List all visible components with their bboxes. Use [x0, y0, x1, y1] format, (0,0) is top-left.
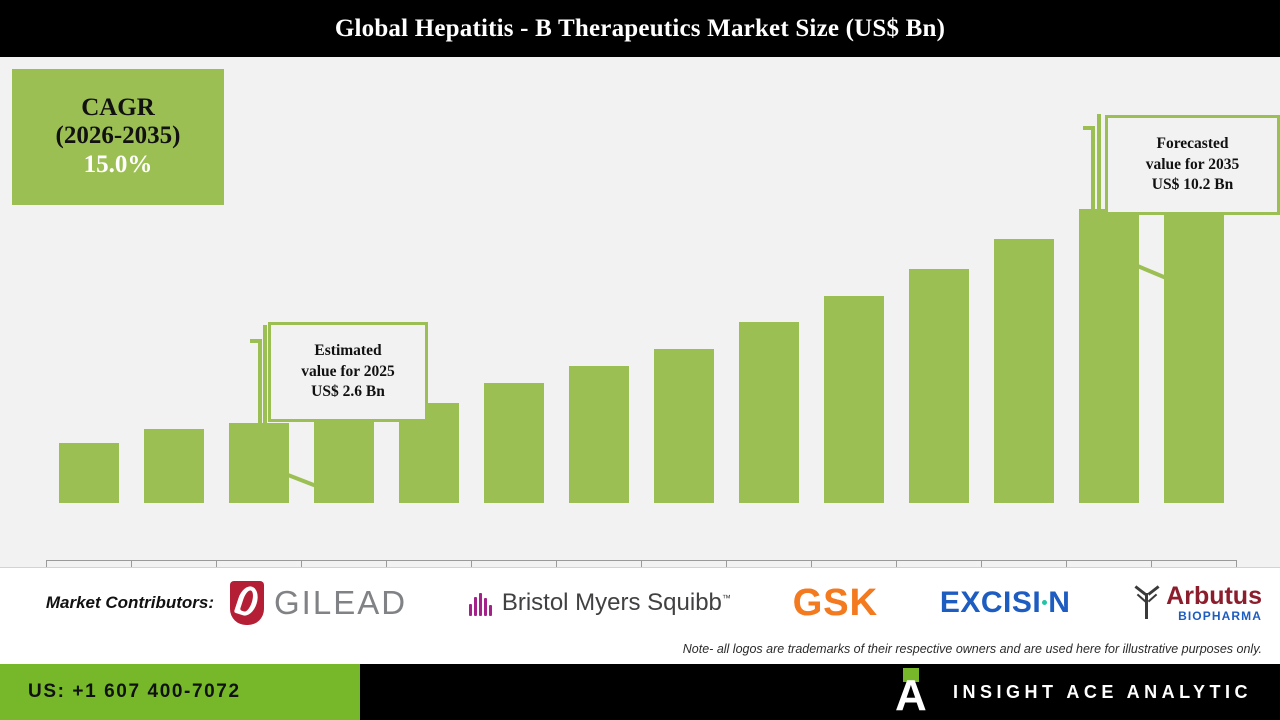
arbutus-tree-icon	[1132, 585, 1162, 621]
callout-estimated-line3: US$ 2.6 Bn	[311, 382, 385, 402]
gilead-wordmark: GILEAD	[274, 584, 407, 622]
bar-2032	[896, 57, 981, 503]
x-tick	[641, 560, 642, 567]
chart-panel: CAGR (2026-2035) 15.0% 2022 (A)2023 (A)2…	[0, 57, 1280, 567]
arbutus-name: Arbutus	[1166, 584, 1262, 609]
page-title: Global Hepatitis - B Therapeutics Market…	[335, 15, 945, 43]
callout-forecasted-line1: Forecasted	[1156, 134, 1228, 154]
bar-series	[46, 57, 1236, 503]
contributors-row: Market Contributors: GILEAD Bristol Myer…	[0, 568, 1280, 638]
arbutus-subtitle: BIOPHARMA	[1178, 609, 1262, 623]
x-tick	[471, 560, 472, 567]
footer-phone[interactable]: US: +1 607 400-7072	[0, 681, 241, 703]
brand-name: INSIGHT ACE ANALYTIC	[953, 682, 1252, 703]
x-tick	[556, 560, 557, 567]
x-tick	[726, 560, 727, 567]
trademark-note: Note- all logos are trademarks of their …	[683, 642, 1262, 656]
logo-gsk: GSK	[793, 582, 878, 625]
bar-2028	[556, 57, 641, 503]
logo-gilead: GILEAD	[230, 581, 407, 625]
bms-wordmark-text: Bristol Myers Squibb	[502, 589, 722, 616]
bar-rect	[59, 443, 119, 503]
bar-rect	[739, 322, 799, 503]
insight-ace-logo-icon: A	[895, 668, 935, 716]
callout-forecasted-box: Forecasted value for 2035 US$ 10.2 Bn	[1105, 115, 1280, 215]
x-tick	[896, 560, 897, 567]
x-tick	[46, 560, 47, 567]
callout-forecasted-line2: value for 2035	[1146, 155, 1240, 175]
bms-hand-icon	[469, 590, 494, 616]
callout-forecasted-line3: US$ 10.2 Bn	[1152, 175, 1233, 195]
contributors-logos: GILEAD Bristol Myers Squibb™ GSK EXCISIN	[230, 581, 1280, 625]
contributors-strip: Market Contributors: GILEAD Bristol Myer…	[0, 567, 1280, 664]
logo-bristol-myers-squibb: Bristol Myers Squibb™	[469, 589, 731, 617]
x-tick	[216, 560, 217, 567]
callout-forecasted-2035: Forecasted value for 2035 US$ 10.2 Bn	[1075, 112, 1280, 272]
x-tick	[1151, 560, 1152, 567]
x-tick	[811, 560, 812, 567]
footer-bar: US: +1 607 400-7072 A INSIGHT ACE ANALYT…	[0, 664, 1280, 720]
x-tick	[131, 560, 132, 567]
footer-phone-block: US: +1 607 400-7072	[0, 664, 360, 720]
excision-dot-icon	[1042, 600, 1047, 605]
x-tick	[981, 560, 982, 567]
excision-wordmark: EXCISIN	[940, 586, 1071, 620]
bar-2031	[811, 57, 896, 503]
contributors-label: Market Contributors:	[0, 593, 230, 613]
infographic-page: Global Hepatitis - B Therapeutics Market…	[0, 0, 1280, 720]
excision-text-a: EXCISI	[940, 586, 1041, 619]
callout-estimated-line2: value for 2025	[301, 362, 395, 382]
excision-text-b: N	[1048, 586, 1070, 619]
bms-wordmark: Bristol Myers Squibb™	[502, 589, 731, 617]
bar-2023	[131, 57, 216, 503]
bms-trademark: ™	[722, 593, 731, 603]
footer-brand-block: A INSIGHT ACE ANALYTIC	[895, 664, 1252, 720]
gsk-wordmark: GSK	[793, 582, 878, 625]
x-tick	[1066, 560, 1067, 567]
callout-estimated-box: Estimated value for 2025 US$ 2.6 Bn	[268, 322, 428, 422]
gilead-shield-icon	[230, 581, 264, 625]
bar-rect	[909, 269, 969, 503]
title-bar: Global Hepatitis - B Therapeutics Market…	[0, 0, 1280, 57]
bar-2027	[471, 57, 556, 503]
bar-rect	[569, 366, 629, 503]
bar-rect	[824, 296, 884, 503]
bar-rect	[484, 383, 544, 503]
arbutus-wordmark: Arbutus BIOPHARMA	[1166, 584, 1262, 623]
bar-2022	[46, 57, 131, 503]
bar-2033	[981, 57, 1066, 503]
x-tick	[1236, 560, 1237, 567]
bar-rect	[654, 349, 714, 503]
bar-2030	[726, 57, 811, 503]
bar-2029	[641, 57, 726, 503]
bar-rect	[994, 239, 1054, 503]
logo-excision: EXCISIN	[940, 586, 1071, 620]
callout-estimated-2025: Estimated value for 2025 US$ 2.6 Bn	[238, 319, 438, 489]
logo-arbutus-biopharma: Arbutus BIOPHARMA	[1132, 584, 1262, 623]
x-tick	[301, 560, 302, 567]
x-tick	[386, 560, 387, 567]
bar-rect	[144, 429, 204, 503]
callout-estimated-line1: Estimated	[314, 341, 381, 361]
